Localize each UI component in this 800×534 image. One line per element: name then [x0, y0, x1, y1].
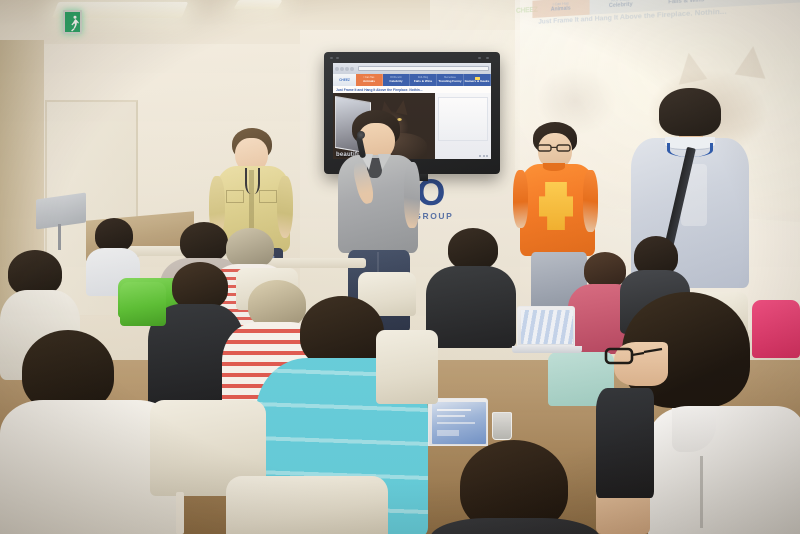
lanyard: [245, 168, 260, 194]
glasses-icon: [537, 144, 572, 152]
nav-tab-gamers-geeks[interactable]: Gamers & Geeks: [464, 74, 491, 86]
nav-tab-trending-funny[interactable]: Memebase Trending Funny: [437, 74, 464, 86]
site-headline-bar: Just Frame It and Hang It Above the Fire…: [333, 86, 491, 93]
drinking-glass: [492, 412, 512, 440]
site-headline: Just Frame It and Hang It Above the Fire…: [336, 88, 423, 92]
running-person-icon: [70, 15, 79, 32]
attendee: [430, 440, 600, 534]
microphone-head-icon: [357, 131, 365, 139]
browser-url-bar[interactable]: [358, 66, 489, 71]
site-nav: CHEEZ I Can Has Animals ROFLrazzi Celebr…: [333, 74, 491, 86]
exit-sign: [63, 10, 82, 34]
laptop: [428, 398, 488, 446]
browser-chrome: [333, 63, 491, 74]
nav-tab-celebrity[interactable]: ROFLrazzi Celebrity: [383, 74, 410, 86]
ceiling-light: [233, 0, 282, 9]
nav-tab-fails-wins[interactable]: FAIL Blog Fails & Wins: [410, 74, 437, 86]
site-sidebar: [435, 93, 491, 159]
music-stand-pole: [58, 224, 61, 250]
tv-bezel: [328, 55, 496, 63]
chair-white: [226, 476, 388, 534]
laptop-base: [512, 346, 582, 353]
projection-nav-item: GEEK Universe Gamers & Geeks: [796, 0, 800, 3]
chair-white: [376, 330, 438, 404]
cheez-logo: CHEEZ: [333, 74, 356, 86]
foreground-attendee-white-shirt: [596, 288, 800, 534]
chair-leg: [176, 492, 184, 534]
photo-scene: CHEEZ I Can Has Animals ROFLrazzi Celebr…: [0, 0, 800, 534]
attendee: [426, 228, 516, 340]
nav-tab-animals[interactable]: I Can Has Animals: [356, 74, 383, 86]
glasses-icon: [604, 344, 666, 368]
chair-green: [120, 282, 166, 326]
laptop: [517, 306, 575, 346]
